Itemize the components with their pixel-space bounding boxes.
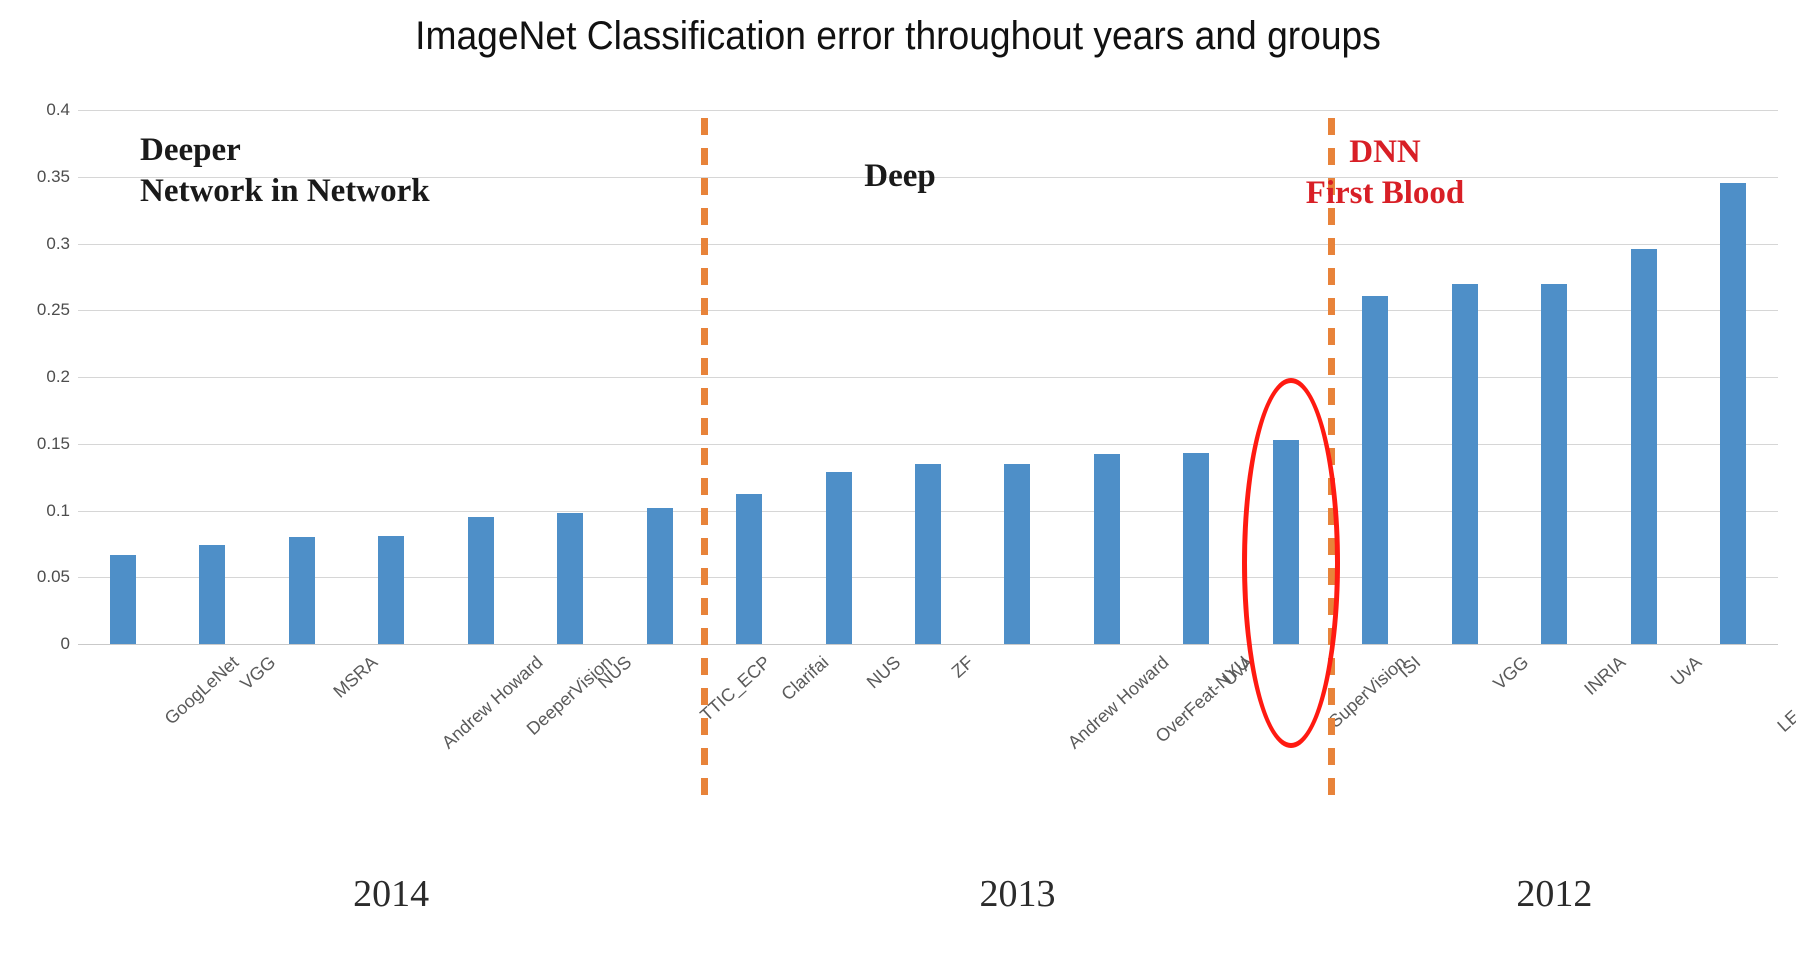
y-axis-tick-label: 0.35 xyxy=(8,167,70,187)
bar xyxy=(289,537,315,644)
x-axis-category-label: ZF xyxy=(948,652,978,682)
x-axis-category-label: UvA xyxy=(1667,652,1706,690)
bar xyxy=(1541,284,1567,644)
x-axis-category-label: GoogLeNet xyxy=(160,652,242,729)
y-axis-tick-label: 0.4 xyxy=(8,100,70,120)
bar xyxy=(647,508,673,644)
x-axis-category-labels: GoogLeNetVGGMSRAAndrew HowardDeeperVisio… xyxy=(78,648,1778,808)
annotation-deep: Deep xyxy=(864,156,935,197)
x-axis-category-label: Clarifai xyxy=(777,652,833,705)
bar xyxy=(1631,249,1657,644)
bar xyxy=(826,472,852,644)
bar xyxy=(1094,454,1120,644)
bar xyxy=(1273,440,1299,644)
chart-root: ImageNet Classification error throughout… xyxy=(0,0,1796,960)
y-axis-tick-labels: 0.40.350.30.250.20.150.10.050 xyxy=(0,110,70,644)
bar xyxy=(1004,464,1030,644)
y-axis-tick-label: 0.1 xyxy=(8,501,70,521)
x-axis-category-label: NUS xyxy=(862,652,904,693)
bar xyxy=(110,555,136,644)
bar xyxy=(468,517,494,644)
y-axis-tick-label: 0.25 xyxy=(8,300,70,320)
bar xyxy=(915,464,941,644)
y-axis-tick-label: 0 xyxy=(8,634,70,654)
bar xyxy=(557,513,583,644)
x-axis-category-label: Andrew Howard xyxy=(438,652,547,753)
chart-title: ImageNet Classification error throughout… xyxy=(63,14,1733,59)
x-axis-category-label: LEAR-XRCE xyxy=(1774,652,1796,737)
bar xyxy=(378,536,404,644)
bar xyxy=(199,545,225,644)
bar xyxy=(1720,183,1746,644)
annotation-deeper-network-in-network: Deeper Network in Network xyxy=(140,130,430,213)
x-axis-category-label: INRIA xyxy=(1581,652,1631,700)
y-axis-tick-label: 0.05 xyxy=(8,567,70,587)
group-separator-2014-2013 xyxy=(701,118,708,808)
group-label-2013: 2013 xyxy=(979,872,1055,916)
bar xyxy=(1183,453,1209,644)
bar xyxy=(1362,296,1388,644)
bar xyxy=(1452,284,1478,644)
gridline xyxy=(78,644,1778,645)
y-axis-tick-label: 0.2 xyxy=(8,367,70,387)
x-axis-category-label: VGG xyxy=(1489,652,1533,694)
group-label-2014: 2014 xyxy=(353,872,429,916)
group-label-2012: 2012 xyxy=(1516,872,1592,916)
y-axis-tick-label: 0.3 xyxy=(8,234,70,254)
x-axis-category-label: MSRA xyxy=(329,652,382,702)
annotation-dnn-first-blood: DNN First Blood xyxy=(1306,132,1465,215)
bar xyxy=(736,494,762,644)
y-axis-tick-label: 0.15 xyxy=(8,434,70,454)
group-separator-2013-2012 xyxy=(1328,118,1335,808)
x-axis-category-label: VGG xyxy=(236,652,280,694)
